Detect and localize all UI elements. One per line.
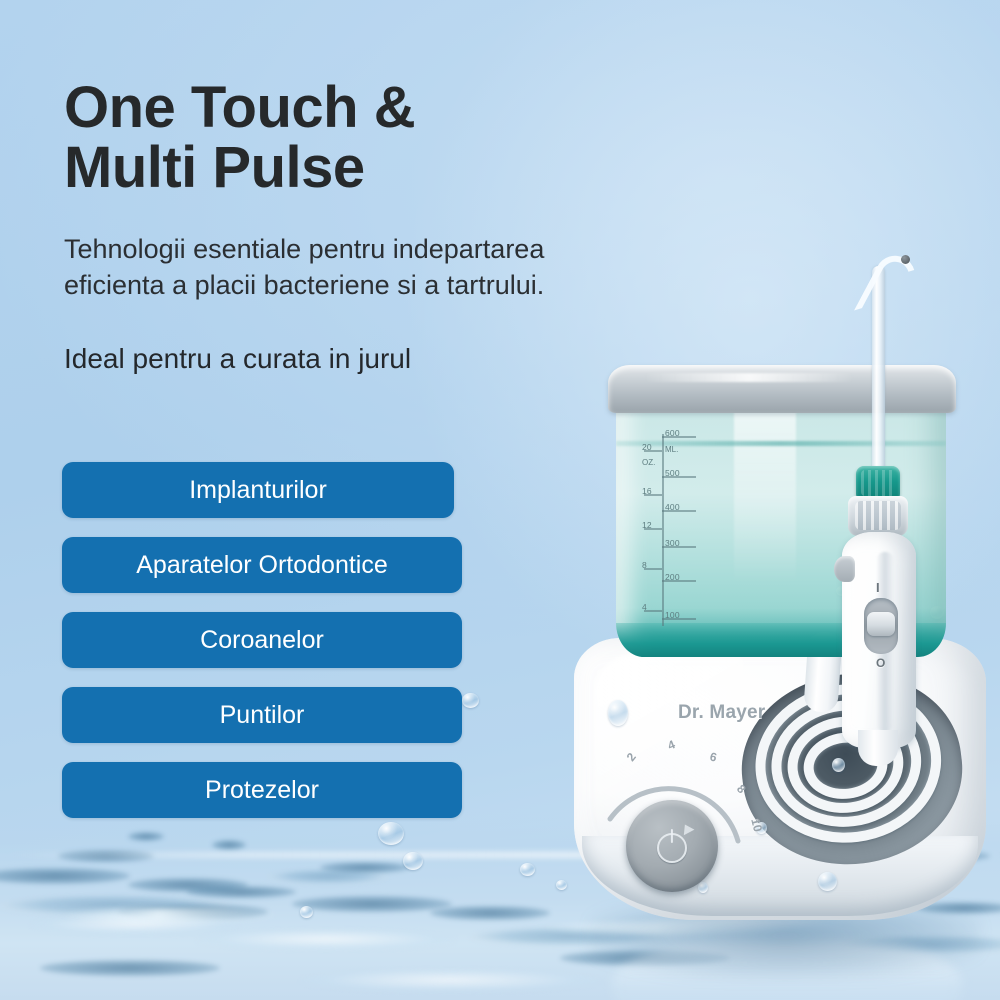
water-droplet [462,693,479,708]
tank-sheen [734,393,796,583]
pill-label: Protezelor [205,778,319,803]
page-title: One Touch & Multi Pulse [64,78,704,199]
power-slider-switch[interactable] [864,598,898,654]
scale-unit-ml: ML. [665,445,678,454]
dial-pointer-icon [680,822,695,836]
scale-ml-500: 500 [665,468,680,478]
scale-oz-4: 4 [642,602,647,612]
benefit-pill-list: Implanturilor Aparatelor Ortodontice Cor… [62,462,462,837]
pill-label: Coroanelor [200,628,324,653]
nozzle-tip-icon [901,255,910,264]
switch-on-label: I [876,580,880,595]
water-droplet [300,906,313,918]
power-icon [657,833,687,863]
nozzle-collar [856,466,900,500]
pill-coroanelor[interactable]: Coroanelor [62,612,462,668]
pill-puntilor[interactable]: Puntilor [62,687,462,743]
handpiece[interactable]: I O [828,260,958,740]
water-droplet [520,863,535,876]
scale-unit-oz: OZ. [642,458,655,467]
scale-oz-20: 20 [642,442,652,452]
base-screw [832,758,845,772]
base-screw [608,700,628,726]
scale-ml-600: 600 [665,428,680,438]
handle-cable-joint [858,730,898,766]
pill-aparatelor-ortodontice[interactable]: Aparatelor Ortodontice [62,537,462,593]
scale-oz-8: 8 [642,560,647,570]
nozzle-eject-button[interactable] [834,556,855,582]
pressure-dial-knob[interactable] [626,800,718,892]
base-screw [698,882,708,893]
product-image: Dr. Mayer 2 4 6 8 10 600 ML. 20 [560,250,1000,970]
base-screw [818,872,837,891]
pill-protezelor[interactable]: Protezelor [62,762,462,818]
pill-implanturilor[interactable]: Implanturilor [62,462,454,518]
pill-label: Aparatelor Ortodontice [136,553,388,578]
switch-off-label: O [876,656,885,670]
promo-canvas: One Touch & Multi Pulse Tehnologii esent… [0,0,1000,1000]
pill-label: Puntilor [220,703,305,728]
water-droplet [403,852,423,870]
scale-ml-400: 400 [665,502,680,512]
scale-oz-12: 12 [642,520,652,530]
scale-ml-300: 300 [665,538,680,548]
power-slider-knob[interactable] [867,612,895,636]
tank-measurement-scale: 600 ML. 20 OZ. 500 16 400 12 300 8 200 4… [628,428,738,628]
brand-wordmark: Dr. Mayer [678,702,765,724]
scale-ml-100: 100 [665,610,680,620]
nozzle-bend [854,249,922,330]
scale-oz-16: 16 [642,486,652,496]
nozzle-base-ring [848,496,908,536]
pill-label: Implanturilor [189,478,327,503]
scale-ml-200: 200 [665,572,680,582]
